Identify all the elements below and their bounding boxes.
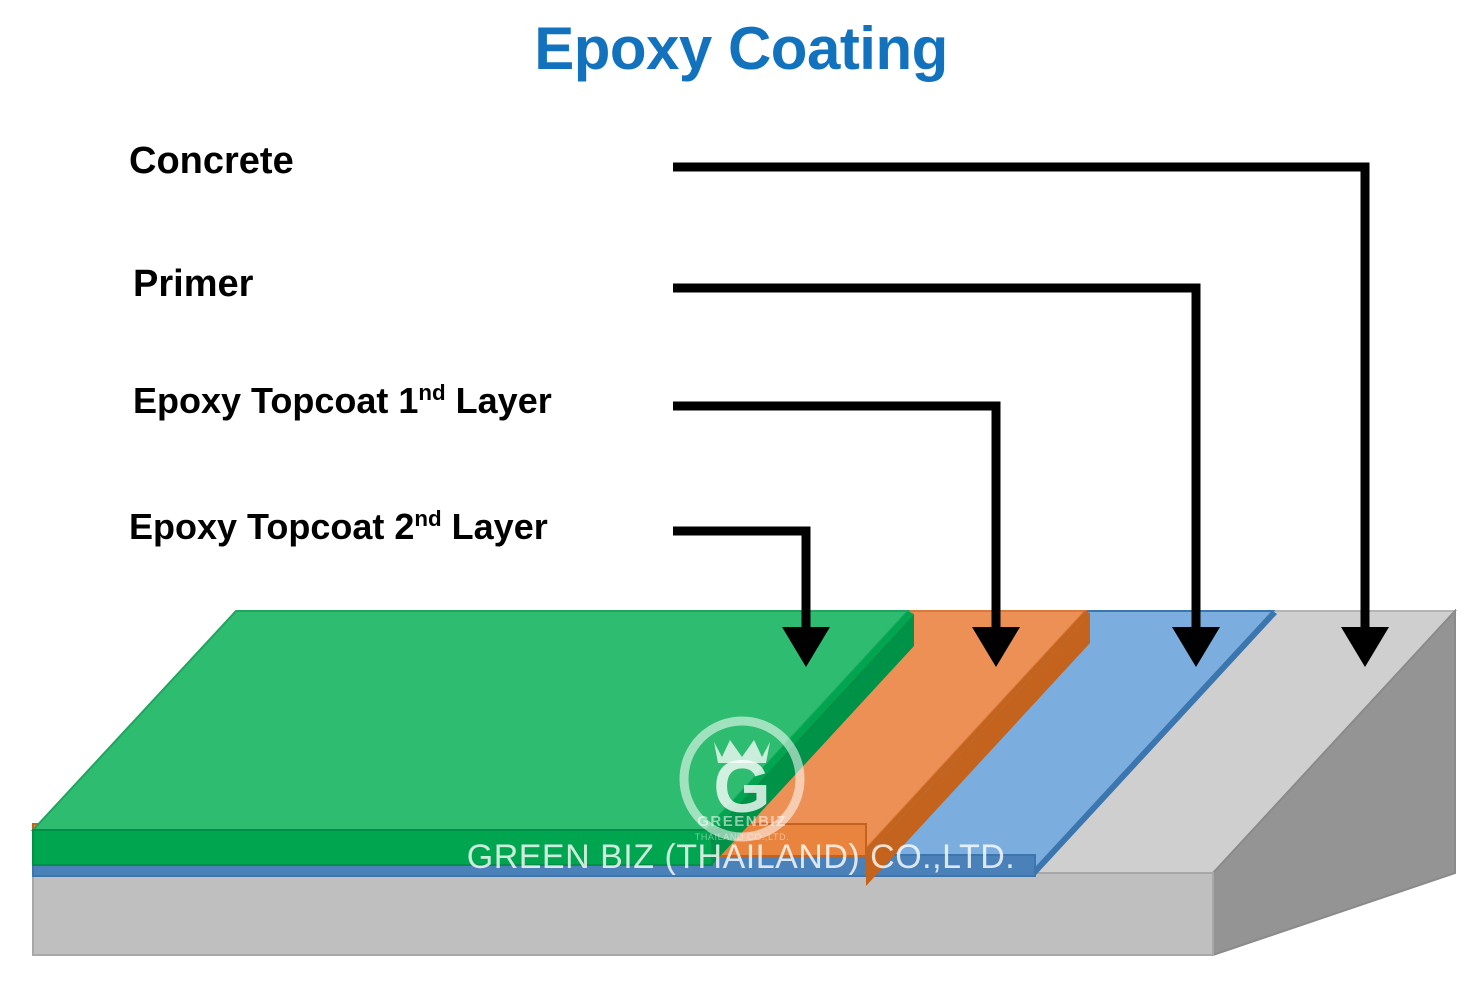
arrowhead-topcoat2 [782, 627, 830, 667]
label-topcoat2-tail: Layer [442, 506, 548, 547]
label-topcoat2-base: Epoxy Topcoat 2 [129, 506, 414, 547]
leader-line-concrete [673, 167, 1365, 630]
label-topcoat1-superscript: nd [418, 380, 445, 405]
diagram-canvas: Epoxy Coating [0, 0, 1482, 987]
label-concrete: Concrete [129, 142, 294, 180]
leader-arrowheads [782, 627, 1389, 667]
leader-line-topcoat2 [673, 531, 806, 630]
label-epoxy-topcoat-1: Epoxy Topcoat 1nd Layer [133, 383, 552, 419]
label-topcoat1-base: Epoxy Topcoat 1 [133, 380, 418, 421]
leader-line-topcoat1 [673, 406, 996, 630]
leader-line-primer [673, 288, 1196, 630]
label-topcoat1-tail: Layer [446, 380, 552, 421]
arrowhead-primer [1172, 627, 1220, 667]
arrowhead-topcoat1 [972, 627, 1020, 667]
label-primer: Primer [133, 265, 253, 303]
arrowhead-concrete [1341, 627, 1389, 667]
label-epoxy-topcoat-2: Epoxy Topcoat 2nd Layer [129, 509, 548, 545]
label-topcoat2-superscript: nd [414, 506, 441, 531]
